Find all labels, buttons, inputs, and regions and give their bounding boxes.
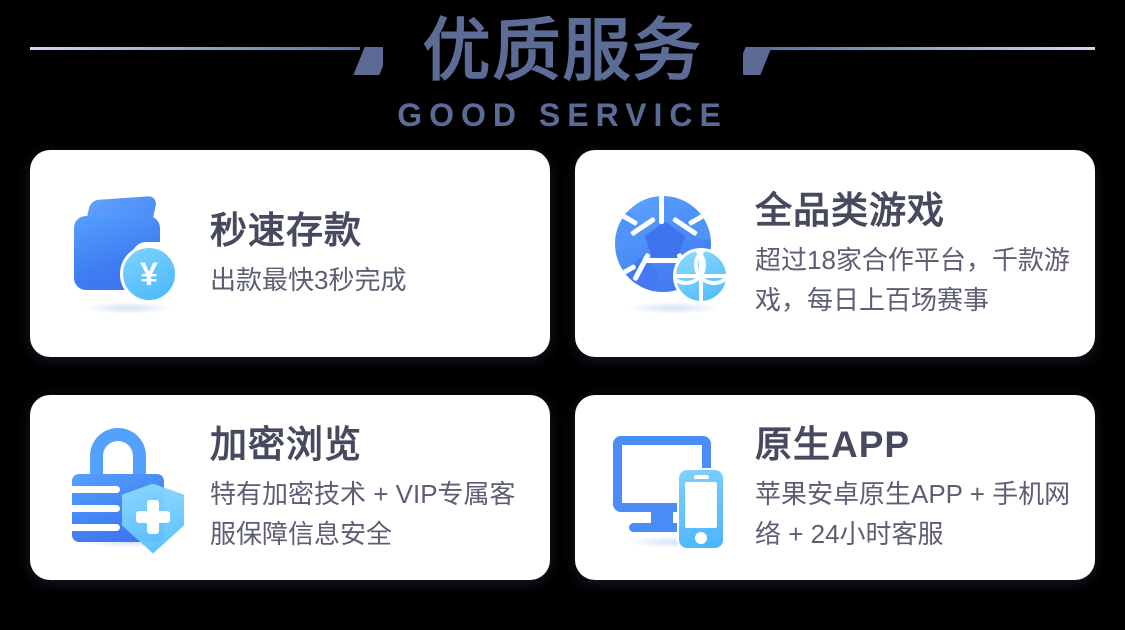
feature-card-grid: ¥ 秒速存款 出款最快3秒完成	[30, 150, 1095, 580]
card-icon-slot	[56, 418, 206, 558]
lock-slot	[72, 505, 120, 512]
card-subtitle: 苹果安卓原生APP + 手机网络 + 24小时客服	[755, 474, 1077, 554]
card-title: 全品类游戏	[755, 188, 1077, 234]
icon-shadow	[80, 302, 176, 314]
card-text-block: 全品类游戏 超过18家合作平台，千款游戏，每日上百场赛事	[751, 188, 1077, 320]
card-text-block: 原生APP 苹果安卓原生APP + 手机网络 + 24小时客服	[751, 422, 1077, 554]
card-icon-slot	[601, 184, 751, 324]
cross-icon	[136, 511, 170, 523]
monitor-phone-icon	[611, 424, 741, 552]
wallet-coin-icon: ¥	[66, 190, 196, 318]
lock-shackle	[90, 428, 146, 480]
page-subtitle: GOOD SERVICE	[0, 96, 1125, 134]
yen-coin-icon: ¥	[120, 245, 178, 303]
feature-card-native-app[interactable]: 原生APP 苹果安卓原生APP + 手机网络 + 24小时客服	[575, 395, 1095, 580]
page-title: 优质服务	[0, 10, 1125, 92]
card-icon-slot: ¥	[56, 184, 206, 324]
basketball-icon	[673, 248, 729, 304]
page-header: 优质服务 GOOD SERVICE	[0, 0, 1125, 148]
card-title: 原生APP	[755, 422, 1077, 468]
card-subtitle: 出款最快3秒完成	[210, 260, 532, 300]
phone-speaker	[694, 475, 709, 479]
card-title: 加密浏览	[210, 422, 532, 468]
soccer-basketball-icon	[611, 190, 741, 318]
monitor-neck	[651, 510, 673, 524]
feature-card-all-category-games[interactable]: 全品类游戏 超过18家合作平台，千款游戏，每日上百场赛事	[575, 150, 1095, 357]
card-icon-slot	[601, 418, 751, 558]
lock-slot	[72, 486, 120, 493]
phone-screen	[685, 482, 717, 528]
feature-card-instant-deposit[interactable]: ¥ 秒速存款 出款最快3秒完成	[30, 150, 550, 357]
lock-slot	[72, 524, 120, 531]
lock-shield-icon	[66, 424, 196, 552]
card-text-block: 加密浏览 特有加密技术 + VIP专属客服保障信息安全	[206, 422, 532, 554]
card-subtitle: 超过18家合作平台，千款游戏，每日上百场赛事	[755, 240, 1077, 320]
promo-page: 优质服务 GOOD SERVICE ¥ 秒速存款 出款最快3秒完成	[0, 0, 1125, 630]
phone-home-button	[695, 532, 707, 544]
card-subtitle: 特有加密技术 + VIP专属客服保障信息安全	[210, 474, 532, 554]
feature-card-encrypted-browsing[interactable]: 加密浏览 特有加密技术 + VIP专属客服保障信息安全	[30, 395, 550, 580]
card-text-block: 秒速存款 出款最快3秒完成	[206, 208, 532, 300]
card-title: 秒速存款	[210, 208, 532, 254]
